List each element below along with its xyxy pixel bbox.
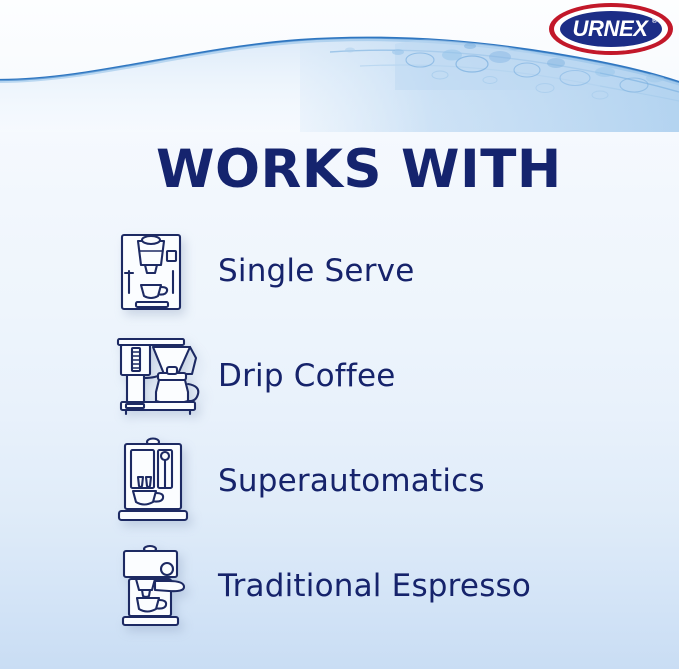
superautomatic-machine-icon	[112, 431, 216, 531]
logo-wordmark: URNEX	[572, 18, 647, 40]
list-item-label: Traditional Espresso	[218, 568, 531, 604]
list-item-label: Single Serve	[218, 253, 414, 289]
traditional-espresso-machine-icon	[112, 536, 216, 636]
logo-inner-oval: URNEX	[560, 11, 662, 47]
compatibility-list: Single Serve	[0, 218, 679, 638]
urnex-logo: URNEX ®	[549, 3, 673, 55]
list-item: Drip Coffee	[0, 323, 679, 428]
list-item-label: Drip Coffee	[218, 358, 396, 394]
list-item: Superautomatics	[0, 428, 679, 533]
list-item: Single Serve	[0, 218, 679, 323]
list-item-label: Superautomatics	[218, 463, 485, 499]
drip-coffee-maker-icon	[112, 326, 216, 426]
registered-trademark-icon: ®	[652, 18, 657, 25]
list-item: Traditional Espresso	[0, 533, 679, 638]
works-with-promo-graphic: URNEX ® WORKS WITH	[0, 0, 679, 669]
page-title: WORKS WITH	[156, 143, 562, 196]
single-serve-machine-icon	[112, 221, 216, 321]
